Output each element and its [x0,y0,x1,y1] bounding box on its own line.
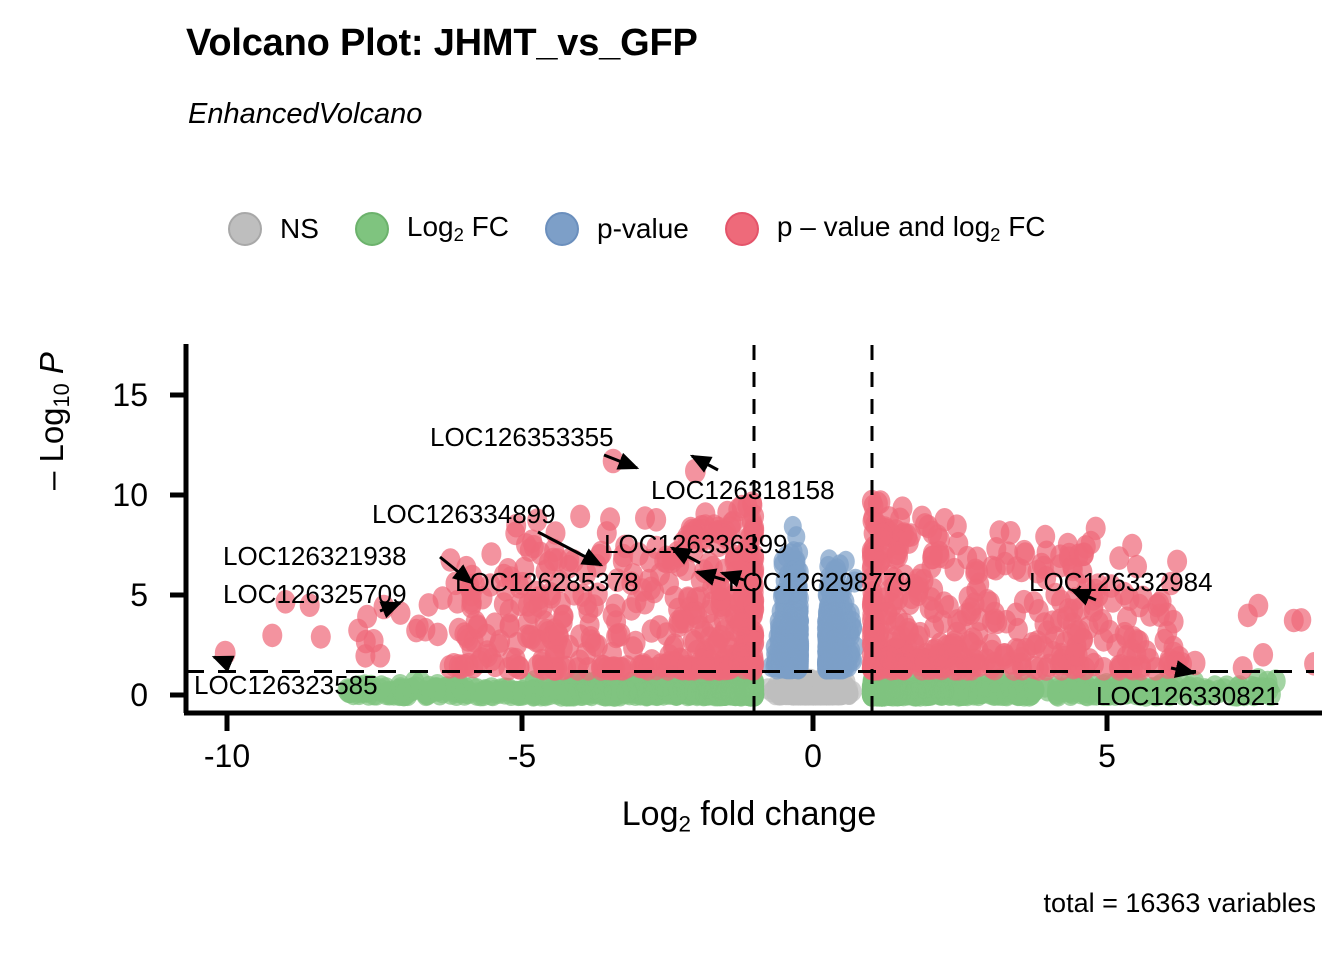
scatter-point [533,657,553,681]
scatter-point [962,633,982,657]
scatter-point [466,610,486,634]
scatter-point [570,505,590,529]
scatter-point [1139,648,1159,672]
scatter-point [1080,648,1100,672]
scatter-point [1116,625,1136,649]
volcano-plot-figure: Volcano Plot: JHMT_vs_GFP EnhancedVolcan… [0,0,1344,960]
scatter-point [516,533,536,557]
scatter-point [665,586,685,610]
scatter-point [623,636,643,660]
scatter-point [553,605,573,629]
scatter-point [947,609,967,633]
scatter-point [611,657,631,681]
scatter-point [1120,656,1140,680]
scatter-point [772,643,790,664]
scatter-point [924,615,944,639]
gene-label: LOC126323585 [194,672,378,698]
scatter-point [1009,683,1029,707]
scatter-point [262,624,282,648]
gene-label: LOC126330821 [1096,683,1280,709]
scatter-point [1009,639,1029,663]
scatter-point [481,542,501,566]
scatter-point [606,610,626,634]
scatter-point [355,644,375,668]
scatter-point [962,657,982,681]
scatter-point [600,507,620,531]
scatter-point [1070,620,1090,644]
scatter-point [1034,636,1054,660]
gene-label: LOC126321938 [223,543,407,569]
plot-caption: total = 16363 variables [1044,888,1316,919]
scatter-point [879,646,899,670]
scatter-point [1248,594,1268,618]
scatter-point [391,677,411,701]
scatter-point [1086,517,1106,541]
scatter-point [1291,608,1311,632]
scatter-point [578,600,598,624]
scatter-point [790,651,808,672]
scatter-point [1233,656,1253,680]
scatter-point [1253,643,1273,667]
scatter-point [1164,610,1184,634]
scatter-point [1014,540,1034,564]
scatter-point [524,681,544,705]
scatter-point [1318,612,1338,636]
gene-label: LOC126332984 [1029,569,1213,595]
scatter-point [726,680,746,704]
scatter-point [1122,534,1142,558]
scatter-point [426,677,446,701]
scatter-point [419,593,439,617]
scatter-point [643,679,663,703]
gene-label: LOC126318158 [651,477,835,503]
scatter-point [906,680,926,704]
scatter-point [549,677,569,701]
scatter-point [893,496,913,520]
scatter-point [730,612,750,636]
scatter-point [945,558,965,582]
gene-label: LOC126298779 [728,569,912,595]
gene-label: LOC126334899 [372,501,556,527]
scatter-point [982,640,1002,664]
scatter-point [1074,542,1094,566]
scatter-point [739,655,759,679]
scatter-point [809,684,827,705]
scatter-point [509,656,529,680]
scatter-point [471,683,491,707]
scatter-point [887,542,907,566]
gene-label: LOC126353355 [430,424,614,450]
gene-label: LOC126285378 [455,569,639,595]
scatter-point [873,523,893,547]
scatter-point [692,649,712,673]
scatter-point [923,542,943,566]
scatter-point [711,625,731,649]
scatter-point [520,625,540,649]
scatter-point [922,521,942,545]
scatter-point [1071,681,1091,705]
scatter-point [642,619,662,643]
scatter-point [791,601,809,622]
gene-label: LOC126325709 [223,581,407,607]
gene-label: LOC126336399 [604,531,788,557]
scatter-point [980,591,1000,615]
scatter-point [820,645,838,666]
scatter-point [659,644,679,668]
scatter-point [311,625,331,649]
scatter-point [585,633,605,657]
scatter-point [451,677,471,701]
scatter-point [506,681,526,705]
scatter-point [500,615,520,639]
scatter-point [688,606,708,630]
scatter-point [959,586,979,610]
scatter-point [522,600,542,624]
scatter-point [947,514,967,538]
scatter-point [642,649,662,673]
scatter-point [928,643,948,667]
scatter-point [967,547,987,571]
scatter-point [415,618,435,642]
scatter-point [618,680,638,704]
scatter-point [914,569,934,593]
scatter-point [826,606,844,627]
